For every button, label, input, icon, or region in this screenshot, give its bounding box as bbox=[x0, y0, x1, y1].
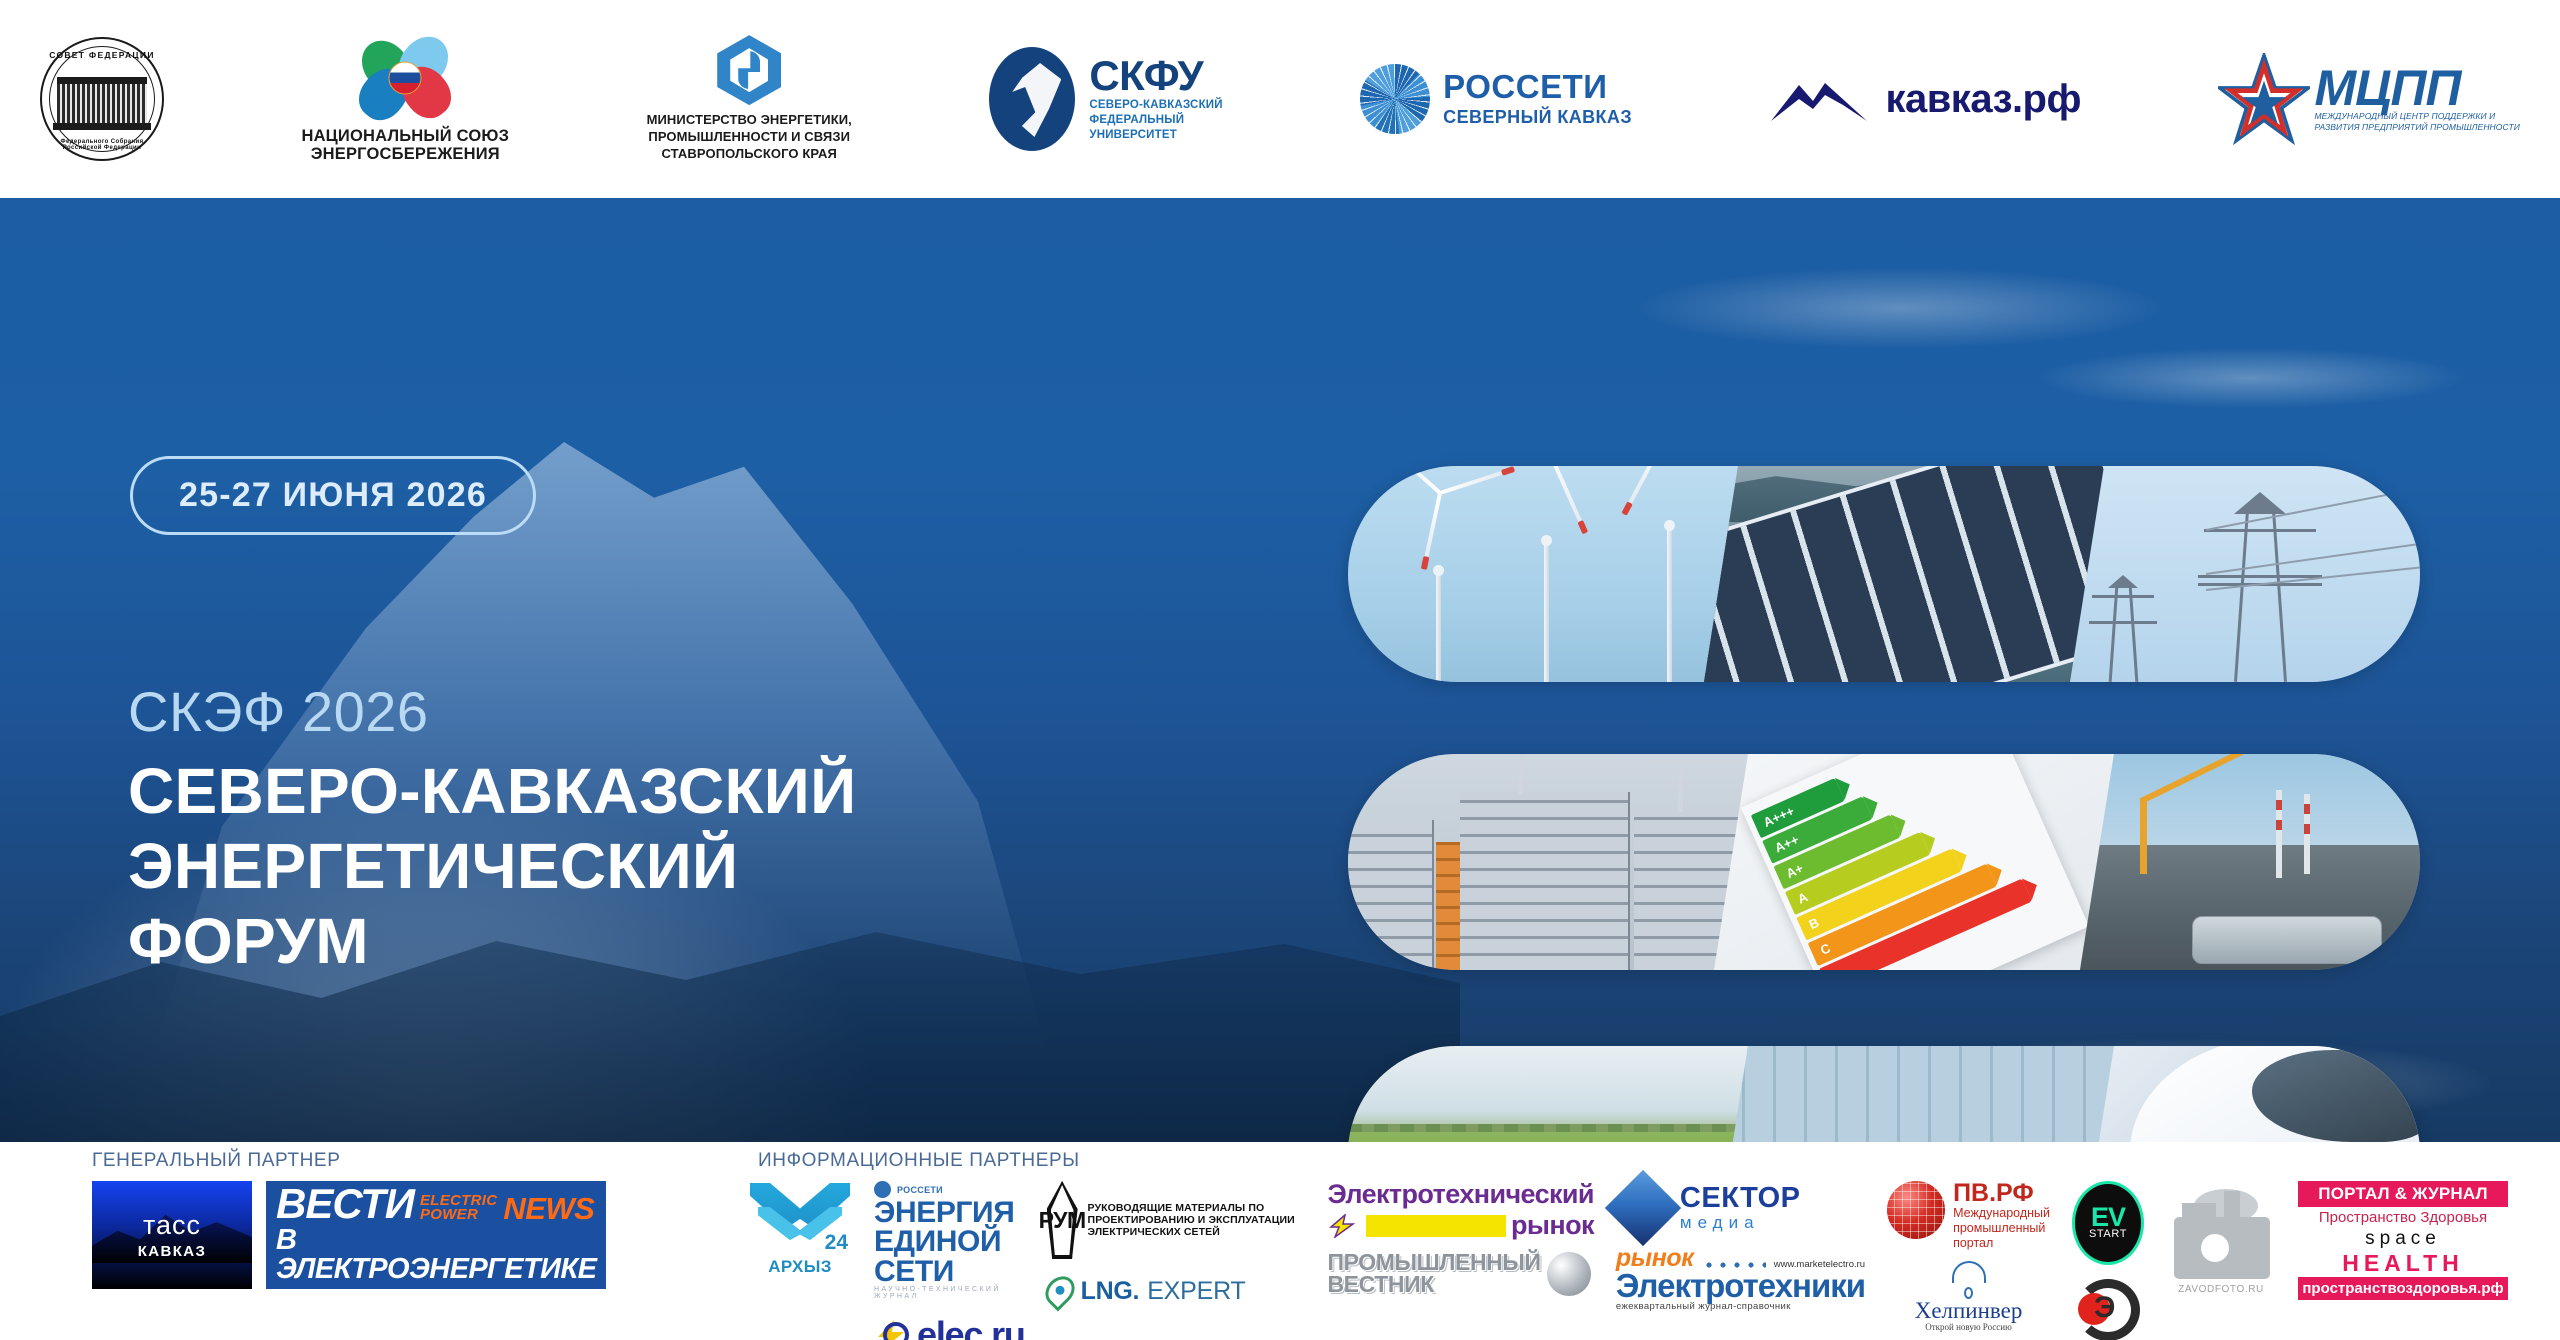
factory-camera-icon: ZAVODFOTO.RU bbox=[2166, 1187, 2276, 1283]
logo-sovet-federatsii: СОВЕТ ФЕДЕРАЦИИ Федерального Собрания Ро… bbox=[40, 37, 164, 161]
logo-rosseti-severny-kavkaz: РОССЕТИ СЕВЕРНЫЙ КАВКАЗ bbox=[1360, 64, 1632, 134]
helpinver-sub: Открой новую Россию bbox=[1925, 1322, 2012, 1332]
crane-mast-2-icon bbox=[1678, 760, 1683, 812]
ees-line1: ЭНЕРГИЯ bbox=[874, 1198, 1025, 1227]
headline-line-2: ЭНЕРГЕТИЧЕСКИЙ bbox=[128, 829, 856, 904]
sh-band4: HEALTH bbox=[2298, 1250, 2508, 1277]
ee-label-0: A+++ bbox=[1761, 803, 1796, 830]
headline-line-3: ФОРУМ bbox=[128, 904, 856, 979]
headline-line-1: СЕВЕРО-КАВКАЗСКИЙ bbox=[128, 754, 856, 829]
pane-energy-efficiency-chart: A+++ A++ A+ A B C bbox=[1714, 754, 2114, 970]
logo-tass-kavkaz: тасс КАВКАЗ bbox=[92, 1181, 252, 1289]
vesti-news: NEWS bbox=[503, 1195, 594, 1223]
orange-facade bbox=[1436, 842, 1462, 970]
tass-sub-text: КАВКАЗ bbox=[138, 1243, 207, 1260]
vesti-word: ВЕСТИ bbox=[276, 1186, 414, 1223]
zavodfoto-text: ZAVODFOTO.RU bbox=[2166, 1284, 2276, 1295]
ee-label-1: A++ bbox=[1772, 832, 1801, 856]
ministry-line1: МИНИСТЕРСТВО ЭНЕРГЕТИКИ, bbox=[647, 112, 852, 129]
camera-lens-icon bbox=[2194, 1227, 2236, 1269]
pvrf-desc2: промышленный bbox=[1953, 1221, 2050, 1236]
crane-jib-2-icon bbox=[1648, 760, 1748, 764]
arkhyz-text: АРХЫЗ bbox=[748, 1257, 852, 1277]
cloud-2-icon bbox=[2040, 348, 2460, 408]
mountain-icon bbox=[1769, 75, 1869, 123]
ee-label-5: C bbox=[1818, 940, 1833, 958]
sektor-diamond-icon bbox=[1605, 1170, 1681, 1246]
pressure-vessel-icon bbox=[2192, 916, 2382, 964]
pvrf-title: ПВ.РФ bbox=[1953, 1181, 2050, 1206]
general-partner-label: ГЕНЕРАЛЬНЫЙ ПАРТНЕР bbox=[92, 1150, 712, 1172]
kavkaz-rf-text: кавказ.рф bbox=[1885, 77, 2081, 122]
vesti-line2: В ЭЛЕКТРОЭНЕРГЕТИКЕ bbox=[276, 1226, 596, 1284]
ev-sub: START bbox=[2089, 1228, 2127, 1240]
main-banner: 25-27 ИЮНЯ 2026 СКЭФ 2026 СЕВЕРО-КАВКАЗС… bbox=[0, 198, 2560, 1142]
lng-light: EXPERT bbox=[1147, 1277, 1245, 1306]
e-circle-letter: Э bbox=[2094, 1293, 2115, 1323]
nse-swirl-icon bbox=[362, 35, 448, 121]
ministry-hexagon-icon bbox=[717, 35, 781, 105]
rosseti-line2: СЕВЕРНЫЙ КАВКАЗ bbox=[1443, 106, 1632, 129]
logo-skfu: СКФУ СЕВЕРО-КАВКАЗСКИЙ ФЕДЕРАЛЬНЫЙ УНИВЕ… bbox=[989, 47, 1222, 151]
partners-footer: ГЕНЕРАЛЬНЫЙ ПАРТНЕР тасс КАВКАЗ ВЕСТИ EL… bbox=[0, 1142, 2560, 1340]
pane-apartment-construction bbox=[1348, 754, 1748, 970]
transmission-pylon-1-icon bbox=[2200, 472, 2320, 682]
crane-jib-1-icon bbox=[1476, 754, 1616, 756]
pane-autonomous-tractor bbox=[1348, 1046, 1748, 1142]
logo-e-circle: Э bbox=[2076, 1279, 2140, 1340]
gas-drop-icon bbox=[1039, 1270, 1080, 1311]
car-window-icon bbox=[2252, 1050, 2420, 1142]
logo-ev-start: EV START bbox=[2072, 1181, 2144, 1265]
logo-group-ees-elecru: РОССЕТИ ЭНЕРГИЯ ЕДИНОЙ СЕТИ НАУЧНО-ТЕХНИ… bbox=[874, 1181, 1025, 1340]
logo-arkhyz-24: 24 АРХЫЗ bbox=[748, 1181, 852, 1277]
ee-label-2: A+ bbox=[1784, 860, 1806, 881]
rum-abbr: РУМ bbox=[1047, 1181, 1078, 1259]
globe-icon bbox=[1887, 1181, 1945, 1239]
elec-ru-text: elec.ru bbox=[917, 1314, 1025, 1340]
image-strip-energy-efficiency: A+++ A++ A+ A B C bbox=[1348, 754, 2420, 970]
pane-refinery-construction bbox=[2080, 754, 2420, 970]
helpinver-title: Хелпинвер bbox=[1915, 1299, 2023, 1322]
sh-band5: пространствоздоровья.рф bbox=[2298, 1277, 2508, 1300]
arkhyz-number: 24 bbox=[825, 1231, 848, 1255]
logo-ministerstvo-energetiki: МИНИСТЕРСТВО ЭНЕРГЕТИКИ, ПРОМЫШЛЕННОСТИ … bbox=[647, 35, 852, 163]
skef-2026-poster: СОВЕТ ФЕДЕРАЦИИ Федерального Собрания Ро… bbox=[0, 0, 2560, 1340]
lng-bold: LNG. bbox=[1081, 1277, 1140, 1306]
glass-building-facade bbox=[1714, 1046, 2114, 1142]
crane-mast-1-icon bbox=[1518, 754, 1523, 794]
electric-car-body-icon bbox=[2130, 1046, 2420, 1142]
star-icon bbox=[2218, 53, 2310, 145]
general-partner-column: ГЕНЕРАЛЬНЫЙ ПАРТНЕР тасс КАВКАЗ ВЕСТИ EL… bbox=[92, 1150, 712, 1289]
information-partners-label: ИНФОРМАЦИОННЫЕ ПАРТНЕРЫ bbox=[748, 1150, 2508, 1172]
pane-ev-charging bbox=[2080, 1046, 2420, 1142]
logo-group-sektor-rel: СЕКТОР медиа рынок www.marketelectro.ru … bbox=[1616, 1181, 1865, 1312]
ees-line2: ЕДИНОЙ СЕТИ bbox=[874, 1227, 1025, 1286]
rum-pentagon-icon: РУМ bbox=[1047, 1181, 1078, 1259]
logo-zavodfoto: ZAVODFOTO.RU bbox=[2166, 1187, 2276, 1283]
skfu-abbr: СКФУ bbox=[1089, 56, 1222, 96]
arkhyz-mountain-icon: 24 АРХЫЗ bbox=[748, 1181, 852, 1277]
partner-logo-header: СОВЕТ ФЕДЕРАЦИИ Федерального Собрания Ро… bbox=[0, 0, 2560, 198]
event-date-badge: 25-27 ИЮНЯ 2026 bbox=[130, 456, 536, 535]
sektor-line1: СЕКТОР bbox=[1680, 1184, 1801, 1213]
ees-badge: РОССЕТИ bbox=[897, 1185, 943, 1195]
chimney-1-icon bbox=[2276, 790, 2282, 878]
logo-group-etr-pv: Электротехнический рынок ПРОМЫШЛЕННЫЙ bbox=[1327, 1181, 1593, 1296]
logo-rynok-elektrotehniki: рынок www.marketelectro.ru Электротехник… bbox=[1616, 1247, 1865, 1312]
ees-line3: НАУЧНО-ТЕХНИЧЕСКИЙ ЖУРНАЛ bbox=[874, 1286, 1025, 1300]
image-strip-renewable-energy bbox=[1348, 466, 2420, 682]
cloud-1-icon bbox=[1640, 268, 2160, 348]
rel-main: Электротехники bbox=[1616, 1270, 1865, 1301]
rosseti-line1: РОССЕТИ bbox=[1443, 70, 1632, 103]
ee-label-6: D bbox=[1829, 966, 1844, 970]
green-field bbox=[1348, 1132, 1748, 1142]
sovet-federatsii-title-bottom: Федерального Собрания Российской Федерац… bbox=[40, 139, 164, 151]
refinery-sky bbox=[2080, 754, 2420, 853]
building-base bbox=[53, 123, 151, 130]
logo-promyshlenny-vestnik: ПРОМЫШЛЕННЫЙ ВЕСТНИК bbox=[1327, 1252, 1590, 1296]
russian-flag-icon bbox=[389, 61, 422, 94]
energy-efficiency-label-icon: A+++ A++ A+ A B C bbox=[1741, 754, 2089, 970]
logo-group-ev-e: EV START Э bbox=[2072, 1181, 2144, 1340]
logo-rum: РУМ РУКОВОДЯЩИЕ МАТЕРИАЛЫ ПО ПРОЕКТИРОВА… bbox=[1047, 1181, 1306, 1259]
sovet-federatsii-title-top: СОВЕТ ФЕДЕРАЦИИ bbox=[40, 50, 164, 60]
logo-elec-ru: elec.ru bbox=[874, 1314, 1025, 1340]
mcpp-sub1: МЕЖДУНАРОДНЫЙ ЦЕНТР ПОДДЕРЖКИ И bbox=[2314, 111, 2520, 122]
pvrf-desc3: портал bbox=[1953, 1236, 2050, 1251]
residential-tower-1 bbox=[1348, 820, 1434, 970]
etr-line1: Электротехнический bbox=[1327, 1181, 1593, 1208]
lightning-bolt-icon bbox=[874, 1320, 910, 1340]
sovet-federatsii-emblem-icon: СОВЕТ ФЕДЕРАЦИИ Федерального Собрания Ро… bbox=[40, 37, 164, 161]
mcpp-sub2: РАЗВИТИЯ ПРЕДПРИЯТИЙ ПРОМЫШЛЕННОСТИ bbox=[2314, 122, 2520, 133]
tass-main-text: тасс bbox=[143, 1210, 201, 1241]
sh-band2: Пространство Здоровья bbox=[2298, 1207, 2508, 1228]
skfu-line3: УНИВЕРСИТЕТ bbox=[1089, 128, 1222, 143]
logo-group-pvrf-helpinver: ПВ.РФ Международный промышленный портал … bbox=[1887, 1181, 2050, 1332]
ee-label-4: B bbox=[1807, 915, 1822, 933]
logo-vesti-v-elektroenergetike: ВЕСТИ ELECTRIC POWER NEWS В ЭЛЕКТРОЭНЕРГ… bbox=[266, 1181, 606, 1289]
pvrf-desc1: Международный bbox=[1953, 1206, 2050, 1221]
banner-headline-block: СКЭФ 2026 СЕВЕРО-КАВКАЗСКИЙ ЭНЕРГЕТИЧЕСК… bbox=[128, 683, 856, 978]
nse-line1: НАЦИОНАЛЬНЫЙ СОЮЗ bbox=[301, 127, 509, 145]
logo-sektor-media: СЕКТОР медиа bbox=[1616, 1181, 1801, 1235]
event-short-name: СКЭФ 2026 bbox=[128, 683, 856, 742]
mcpp-abbr: МЦПП bbox=[2314, 65, 2520, 111]
vesti-power: POWER bbox=[420, 1208, 497, 1222]
rum-description: РУКОВОДЯЩИЕ МАТЕРИАЛЫ ПО ПРОЕКТИРОВАНИЮ … bbox=[1088, 1202, 1306, 1239]
crane-mast-icon bbox=[2140, 800, 2147, 874]
skfu-line1: СЕВЕРО-КАВКАЗСКИЙ bbox=[1089, 98, 1222, 113]
logo-pv-rf: ПВ.РФ Международный промышленный портал bbox=[1887, 1181, 2050, 1251]
logo-lng-expert: LNG. EXPERT bbox=[1047, 1275, 1246, 1307]
ministry-line2: ПРОМЫШЛЕННОСТИ И СВЯЗИ bbox=[647, 129, 852, 146]
industrial-sphere-icon bbox=[1547, 1252, 1591, 1296]
ministry-line3: СТАВРОПОЛЬСКОГО КРАЯ bbox=[647, 146, 852, 163]
information-partners-column: ИНФОРМАЦИОННЫЕ ПАРТНЕРЫ 24 АРХЫЗ bbox=[748, 1150, 2508, 1340]
pane-power-lines bbox=[2070, 466, 2420, 682]
logo-mcpp: МЦПП МЕЖДУНАРОДНЫЙ ЦЕНТР ПОДДЕРЖКИ И РАЗ… bbox=[2218, 53, 2520, 145]
image-strip-electric-transport bbox=[1348, 1046, 2420, 1142]
pane-electric-trucks bbox=[1714, 1046, 2114, 1142]
skfu-line2: ФЕДЕРАЛЬНЫЙ bbox=[1089, 113, 1222, 128]
rosseti-sun-icon bbox=[1360, 64, 1430, 134]
parachute-icon bbox=[1952, 1261, 1986, 1283]
ee-label-3: A bbox=[1795, 889, 1810, 907]
sektor-line2: медиа bbox=[1680, 1213, 1801, 1233]
nse-line2: ЭНЕРГОСБЕРЕЖЕНИЯ bbox=[301, 145, 509, 163]
etr-yellow-bar bbox=[1366, 1215, 1506, 1237]
logo-space-health: ПОРТАЛ & ЖУРНАЛ Пространство Здоровья sp… bbox=[2298, 1181, 2508, 1300]
etr-line2: рынок bbox=[1511, 1210, 1594, 1241]
pane-solar-panels-lake bbox=[1704, 466, 2104, 682]
logo-group-rum-lng: РУМ РУКОВОДЯЩИЕ МАТЕРИАЛЫ ПО ПРОЕКТИРОВА… bbox=[1047, 1181, 1306, 1307]
transmission-pylon-2-icon bbox=[2090, 562, 2156, 682]
parliament-building-icon bbox=[57, 77, 147, 123]
logo-natsionalny-soyuz-energosberezheniya: НАЦИОНАЛЬНЫЙ СОЮЗ ЭНЕРГОСБЕРЕЖЕНИЯ bbox=[301, 35, 509, 164]
pv-line2: ВЕСТНИК bbox=[1327, 1274, 1540, 1296]
pane-wind-turbines bbox=[1348, 466, 1738, 682]
sh-band1: ПОРТАЛ & ЖУРНАЛ bbox=[2298, 1181, 2508, 1207]
logo-elektrotehnicheskiy-rynok: Электротехнический рынок bbox=[1327, 1181, 1593, 1241]
etr-bolt-icon bbox=[1327, 1214, 1361, 1238]
logo-energiya-edinoy-seti: РОССЕТИ ЭНЕРГИЯ ЕДИНОЙ СЕТИ НАУЧНО-ТЕХНИ… bbox=[874, 1181, 1025, 1300]
chimney-2-icon bbox=[2304, 794, 2310, 874]
logo-kavkaz-rf: кавказ.рф bbox=[1769, 75, 2081, 123]
logo-helpinver: Хелпинвер Открой новую Россию bbox=[1915, 1261, 2023, 1332]
ev-abbr: EV bbox=[2091, 1206, 2125, 1229]
sh-band3: space bbox=[2298, 1228, 2508, 1250]
skfu-bird-icon bbox=[989, 47, 1075, 151]
residential-tower-2 bbox=[1460, 792, 1630, 970]
